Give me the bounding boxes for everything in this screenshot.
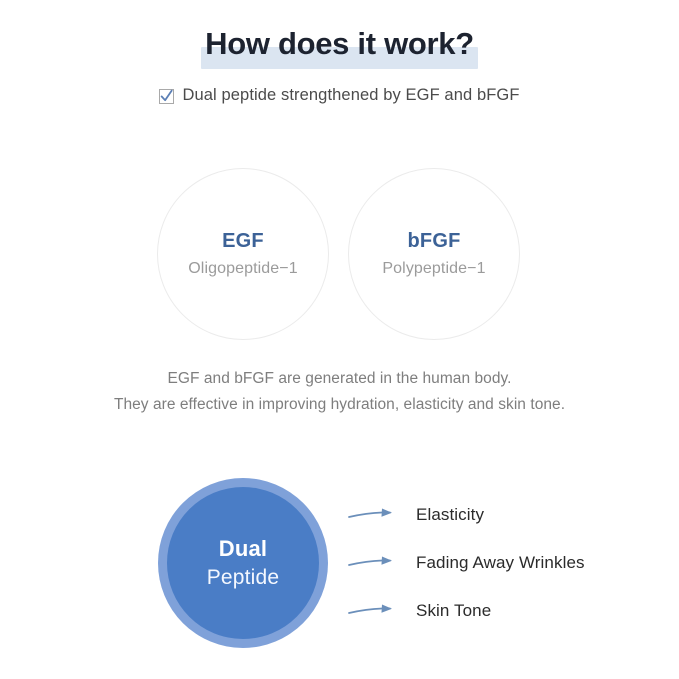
page-title: How does it work? bbox=[205, 22, 474, 66]
benefit-row-skin-tone: Skin Tone bbox=[348, 598, 491, 624]
peptide-circles: EGF Oligopeptide−1 bFGF Polypeptide−1 bbox=[0, 168, 679, 344]
dual-peptide-circle: Dual Peptide bbox=[158, 478, 328, 648]
peptide-circle-bfgf: bFGF Polypeptide−1 bbox=[348, 168, 520, 340]
page-title-area: How does it work? bbox=[0, 22, 679, 66]
peptide-name-egf: EGF bbox=[222, 230, 264, 253]
checkbox-checked-icon bbox=[159, 89, 174, 104]
arrow-right-icon bbox=[348, 507, 398, 523]
benefit-label-wrinkles: Fading Away Wrinkles bbox=[416, 553, 585, 573]
dual-peptide-inner-circle: Dual Peptide bbox=[167, 487, 319, 639]
benefit-row-wrinkles: Fading Away Wrinkles bbox=[348, 550, 585, 576]
dual-peptide-title: Dual bbox=[219, 535, 267, 563]
peptide-circle-egf: EGF Oligopeptide−1 bbox=[157, 168, 329, 340]
arrow-right-icon bbox=[348, 555, 398, 571]
dual-peptide-subtitle: Peptide bbox=[207, 563, 280, 592]
benefit-label-elasticity: Elasticity bbox=[416, 505, 484, 525]
peptide-subtitle-bfgf: Polypeptide−1 bbox=[382, 260, 485, 278]
description-line-1: EGF and bFGF are generated in the human … bbox=[0, 366, 679, 392]
peptide-name-bfgf: bFGF bbox=[407, 230, 460, 253]
checklist-label: Dual peptide strengthened by EGF and bFG… bbox=[182, 86, 519, 105]
page-title-wrapper: How does it work? bbox=[199, 22, 480, 66]
description-line-2: They are effective in improving hydratio… bbox=[0, 392, 679, 418]
benefit-label-skin-tone: Skin Tone bbox=[416, 601, 491, 621]
description-block: EGF and bFGF are generated in the human … bbox=[0, 366, 679, 418]
checklist-item: Dual peptide strengthened by EGF and bFG… bbox=[159, 86, 519, 105]
infographic-page: How does it work? Dual peptide strengthe… bbox=[0, 0, 679, 679]
peptide-subtitle-egf: Oligopeptide−1 bbox=[188, 260, 298, 278]
arrow-right-icon bbox=[348, 603, 398, 619]
checklist-row: Dual peptide strengthened by EGF and bFG… bbox=[0, 86, 679, 108]
dual-peptide-section: Dual Peptide Elasticity Fading Away Wrin… bbox=[0, 475, 679, 650]
benefit-row-elasticity: Elasticity bbox=[348, 502, 484, 528]
